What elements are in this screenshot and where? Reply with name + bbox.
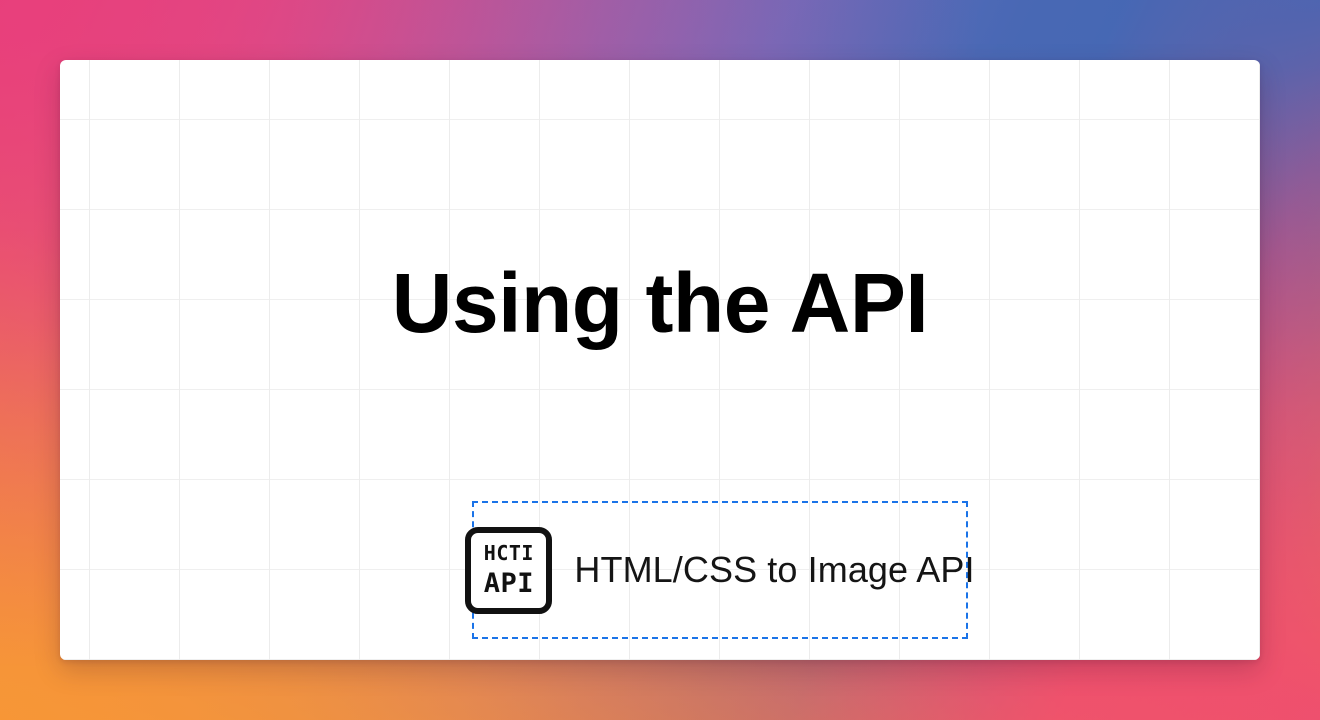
slide-content: Using the API HCTI API HTML/CSS to Image… [60, 60, 1260, 660]
page-title: Using the API [60, 256, 1260, 350]
attribution-badge[interactable]: HCTI API HTML/CSS to Image API [472, 501, 968, 639]
hcti-logo-line-two: API [484, 570, 534, 597]
hcti-logo-line-one: HCTI [484, 543, 534, 563]
gradient-backdrop: Using the API HCTI API HTML/CSS to Image… [0, 0, 1320, 720]
hcti-logo-icon: HCTI API [465, 527, 552, 614]
slide-card: Using the API HCTI API HTML/CSS to Image… [60, 60, 1260, 660]
attribution-label: HTML/CSS to Image API [574, 549, 974, 591]
